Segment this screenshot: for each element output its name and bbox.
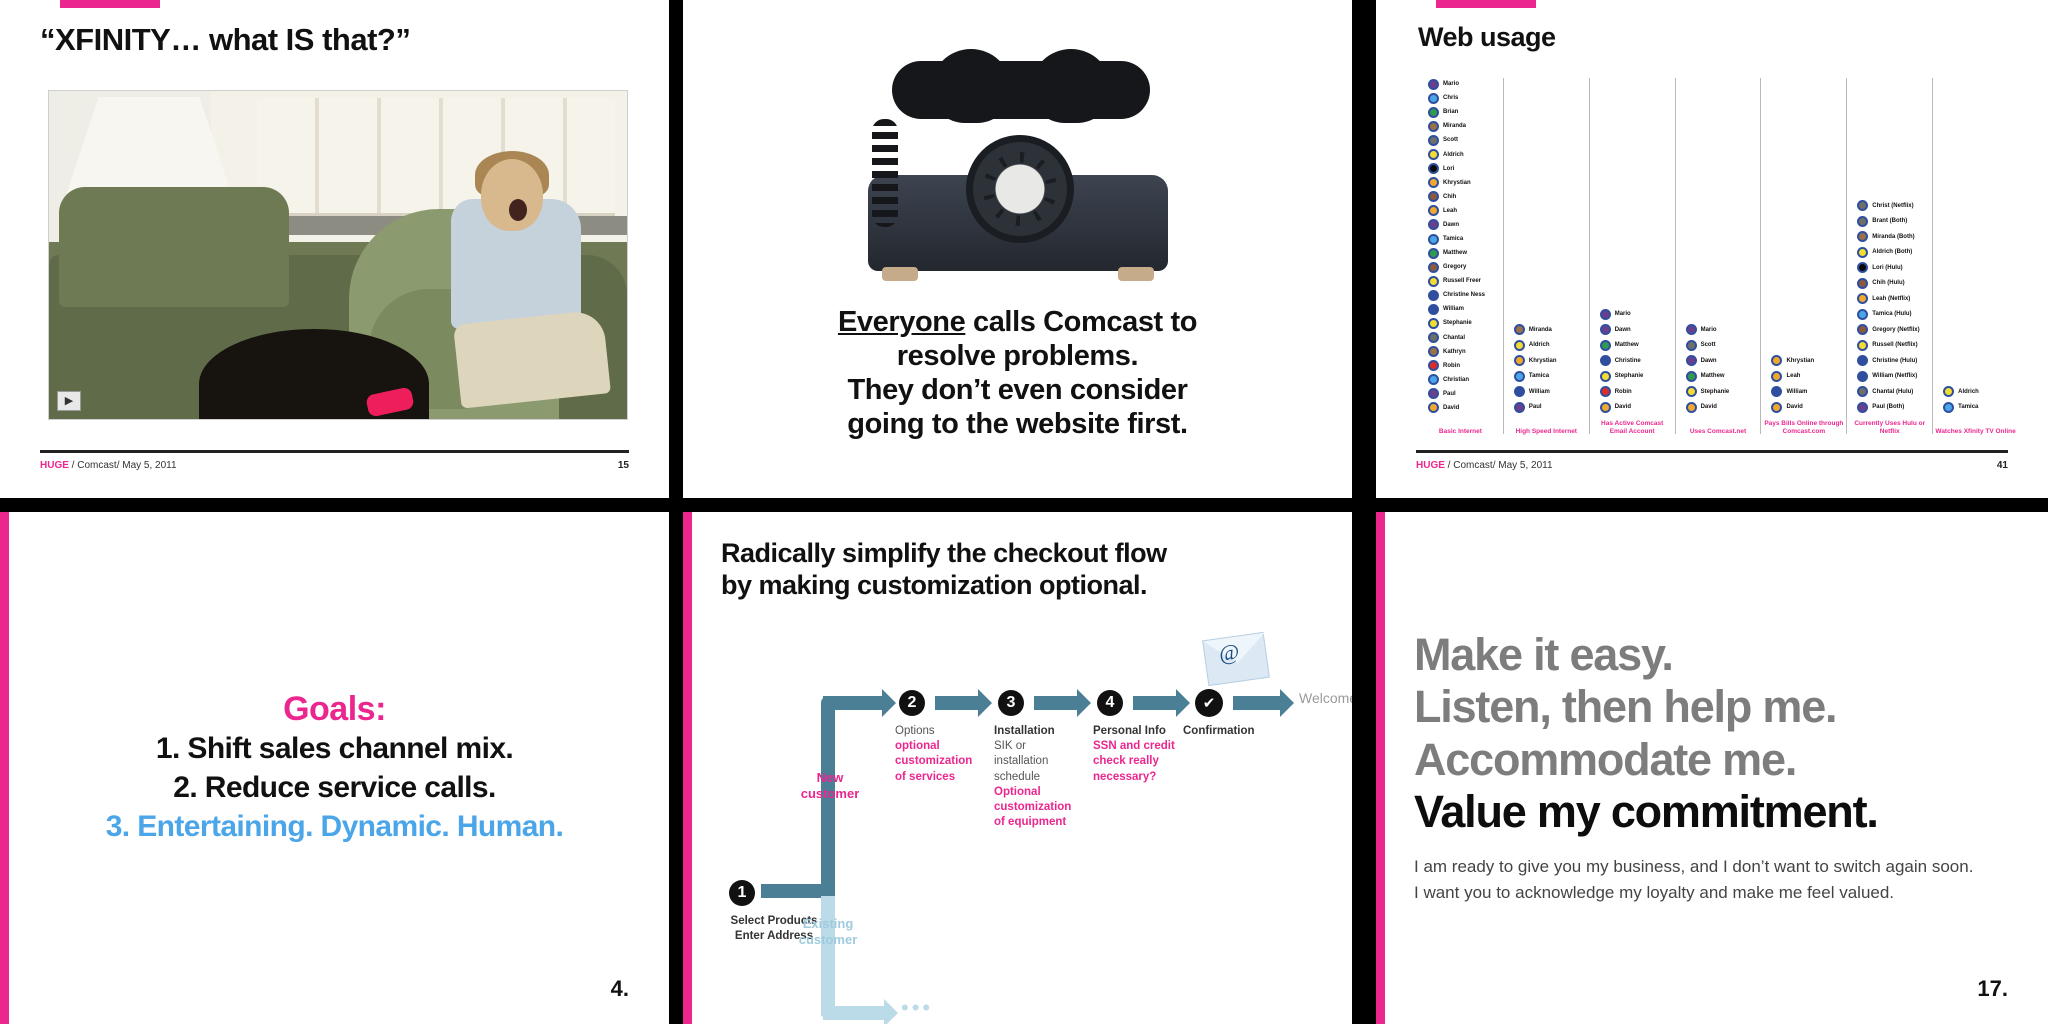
participant-dot-icon (1514, 340, 1525, 351)
footer-meta: / Comcast/ May 5, 2011 (1445, 460, 1553, 471)
participant-label: David (1701, 404, 1717, 410)
slide-make-it-easy[interactable]: Make it easy. Listen, then help me. Acco… (1376, 512, 2048, 1024)
chart-column-header: Uses Comcast.net (1678, 428, 1759, 436)
phone-earpiece-right (1032, 49, 1110, 123)
flow-arrow-2-to-3 (935, 696, 979, 710)
flow-step-2-text: Options optional customization of servic… (895, 724, 983, 785)
chart-participant: Chantal (1428, 332, 1499, 344)
phone-rotary-dial (966, 135, 1074, 243)
participant-dot-icon (1686, 371, 1697, 382)
chart-participant: Gregory (Netflix) (1857, 323, 1928, 337)
chart-participant: Lori (Hulu) (1857, 261, 1928, 275)
slide5-title: Radically simplify the checkout flow by … (721, 538, 1167, 602)
participant-dot-icon (1857, 278, 1868, 289)
slide-cell-5: Radically simplify the checkout flow by … (683, 512, 1366, 1024)
participant-label: Miranda (1443, 123, 1466, 129)
chart-participant: Dawn (1600, 323, 1671, 337)
participant-label: Matthew (1615, 342, 1639, 348)
slide5-title-line1: Radically simplify the checkout flow (721, 538, 1167, 570)
participant-label: Russell (Netflix) (1872, 342, 1917, 348)
participant-label: Tamica (1529, 373, 1549, 379)
chart-participant: David (1600, 401, 1671, 415)
photo-woman-pants (453, 309, 611, 408)
participant-label: Tamica (Hulu) (1872, 311, 1911, 317)
slide1-footer: HUGE / Comcast/ May 5, 2011 15 (40, 450, 629, 480)
participant-dot-icon (1686, 340, 1697, 351)
slide2-content: Everyone calls Comcast to resolve proble… (683, 0, 1352, 498)
slide6-body-text: I am ready to give you my business, and … (1414, 854, 1974, 907)
participant-dot-icon (1514, 371, 1525, 382)
goal-item-2: 2. Reduce service calls. (173, 768, 496, 807)
slide5-title-line2: by making customization optional. (721, 570, 1167, 602)
chart-participant: Russell (Netflix) (1857, 339, 1928, 353)
participant-dot-icon (1428, 93, 1439, 104)
chart-column-items: MirandaAldrichKhrystianTamicaWilliamPaul (1514, 78, 1585, 414)
participant-label: Chantal (Hulu) (1872, 389, 1913, 395)
flow-step-4-pink: SSN and credit check really necessary? (1093, 739, 1181, 785)
participant-label: Aldrich (1958, 389, 1979, 395)
participant-label: Christian (1443, 377, 1469, 383)
chart-participant: Chris (1428, 92, 1499, 104)
participant-label: Mario (1443, 81, 1459, 87)
participant-dot-icon (1686, 386, 1697, 397)
chart-participant: Tamica (1428, 233, 1499, 245)
slide1-page-number: 15 (618, 460, 629, 471)
chart-column-header: Watches Xfinity TV Online (1935, 428, 2016, 436)
chart-participant: William (1428, 303, 1499, 315)
chart-participant: Paul (1428, 388, 1499, 400)
flow-arrow-to-step2 (823, 696, 883, 710)
goal-item-1: 1. Shift sales channel mix. (156, 729, 513, 768)
participant-dot-icon (1428, 107, 1439, 118)
slide6-line-1: Make it easy. (1414, 629, 2008, 681)
chart-participant: Khrystian (1428, 177, 1499, 189)
chart-participant: Mario (1600, 308, 1671, 322)
participant-label: Gregory (1443, 264, 1466, 270)
slide2-line-2: resolve problems. (838, 339, 1197, 373)
participant-label: Leah (Netflix) (1872, 296, 1910, 302)
flow-arrow-to-welcome (1233, 696, 1281, 710)
participant-dot-icon (1857, 293, 1868, 304)
participant-dot-icon (1428, 332, 1439, 343)
chart-participant: Matthew (1686, 370, 1757, 384)
participant-label: Christine (Hulu) (1872, 358, 1917, 364)
participant-dot-icon (1686, 355, 1697, 366)
participant-label: Robin (1443, 363, 1460, 369)
chart-columns: MarioChrisBrianMirandaScottAldrichLoriKh… (1418, 78, 2018, 434)
participant-label: Mario (1701, 327, 1717, 333)
rotary-phone-illustration (838, 57, 1198, 287)
chart-column-items: Christ (Netflix)Brant (Both)Miranda (Bot… (1857, 78, 1928, 414)
email-envelope-icon: @ (1202, 632, 1270, 686)
chart-participant: William (1514, 385, 1585, 399)
chart-column-items: KhrystianLeahWilliamDavid (1771, 78, 1842, 414)
participant-dot-icon (1771, 371, 1782, 382)
phone-cord (872, 119, 898, 227)
participant-label: Matthew (1443, 250, 1467, 256)
slide2-line1-rest: calls Comcast to (965, 306, 1197, 338)
participant-dot-icon (1600, 386, 1611, 397)
chart-column-header: Pays Bills Online through Comcast.com (1763, 420, 1844, 436)
slide1-video-thumbnail[interactable]: ▶ (48, 90, 628, 420)
flow-step-2-badge: 2 (899, 690, 925, 716)
participant-dot-icon (1428, 121, 1439, 132)
flow-step-2-pink: optional customization of services (895, 739, 983, 785)
chart-participant: Khrystian (1771, 354, 1842, 368)
chart-column-4: MarioScottDawnMatthewStephanieDavidUses … (1676, 78, 1762, 434)
participant-dot-icon (1857, 355, 1868, 366)
chart-column-items: AldrichTamica (1943, 78, 2014, 414)
slide-cell-2: Everyone calls Comcast to resolve proble… (683, 0, 1366, 512)
participant-dot-icon (1600, 309, 1611, 320)
chart-participant: Stephanie (1428, 317, 1499, 329)
chart-participant: Leah (Netflix) (1857, 292, 1928, 306)
participant-dot-icon (1514, 402, 1525, 413)
flow-step-2-head: Options (895, 724, 983, 739)
chart-participant: Mario (1686, 323, 1757, 337)
chart-column-items: MarioChrisBrianMirandaScottAldrichLoriKh… (1428, 78, 1499, 414)
participant-dot-icon (1857, 402, 1868, 413)
participant-dot-icon (1428, 304, 1439, 315)
chart-participant: David (1686, 401, 1757, 415)
pink-accent-bar (1436, 0, 1536, 8)
chart-participant: Dawn (1686, 354, 1757, 368)
participant-dot-icon (1943, 402, 1954, 413)
chart-participant: Scott (1686, 339, 1757, 353)
chart-column-items: MarioDawnMatthewChristineStephanieRobinD… (1600, 78, 1671, 414)
slide6-line-2: Listen, then help me. (1414, 681, 2008, 733)
participant-dot-icon (1428, 374, 1439, 385)
slide-cell-1: “XFINITY… what IS that?” ▶ (0, 0, 683, 512)
participant-label: Russell Freer (1443, 278, 1481, 284)
chart-participant: Matthew (1600, 339, 1671, 353)
chart-participant: Dawn (1428, 219, 1499, 231)
participant-label: Kathryn (1443, 349, 1466, 355)
phone-foot-left (882, 267, 918, 281)
participant-label: Dawn (1443, 222, 1459, 228)
chart-participant: Robin (1600, 385, 1671, 399)
flow-arrow-existing-out (823, 1006, 885, 1020)
footer-meta: / Comcast/ May 5, 2011 (69, 460, 177, 471)
chart-participant: Tamica (1943, 401, 2014, 415)
slide-grid: “XFINITY… what IS that?” ▶ (0, 0, 2048, 1024)
slide4-content: Goals: 1. Shift sales channel mix. 2. Re… (0, 512, 669, 1024)
at-symbol-icon: @ (1217, 639, 1241, 668)
slide6-line-3: Accommodate me. (1414, 734, 2008, 786)
flow-label-existing-customer: Existing customer (773, 916, 883, 949)
goal-item-3: 3. Entertaining. Dynamic. Human. (106, 807, 564, 846)
participant-label: Stephanie (1701, 389, 1730, 395)
participant-label: Chih (Hulu) (1872, 280, 1904, 286)
participant-label: William (1529, 389, 1550, 395)
participant-dot-icon (1428, 163, 1439, 174)
chart-column-header: Has Active Comcast Email Account (1592, 420, 1673, 436)
chart-participant: Leah (1771, 370, 1842, 384)
participant-label: William (1443, 306, 1464, 312)
participant-dot-icon (1428, 191, 1439, 202)
slide3-title: Web usage (1418, 22, 1556, 53)
chart-participant: Christine (Hulu) (1857, 354, 1928, 368)
participant-label: William (Netflix) (1872, 373, 1917, 379)
chart-participant: William (1771, 385, 1842, 399)
slide-web-usage[interactable]: Web usage MarioChrisBrianMirandaScottAld… (1376, 0, 2048, 498)
chart-column-2: MirandaAldrichKhrystianTamicaWilliamPaul… (1504, 78, 1590, 434)
participant-dot-icon (1428, 276, 1439, 287)
flow-confirmation-text: Confirmation (1183, 724, 1293, 739)
participant-dot-icon (1943, 386, 1954, 397)
chart-participant: Miranda (1514, 323, 1585, 337)
participant-label: David (1786, 404, 1802, 410)
chart-participant: Stephanie (1600, 370, 1671, 384)
participant-dot-icon (1600, 402, 1611, 413)
participant-label: Christine Ness (1443, 292, 1485, 298)
participant-dot-icon (1428, 149, 1439, 160)
participant-label: Lori (Hulu) (1872, 265, 1902, 271)
chart-participant: Christine (1600, 354, 1671, 368)
slide6-line-bold: Value my commitment. (1414, 786, 2008, 838)
phone-earpiece-left (932, 49, 1010, 123)
footer-credit: HUGE / Comcast/ May 5, 2011 (1416, 460, 1553, 471)
participant-dot-icon (1428, 388, 1439, 399)
participant-label: Christ (Netflix) (1872, 203, 1913, 209)
chart-participant: Leah (1428, 205, 1499, 217)
chart-participant: Kathryn (1428, 346, 1499, 358)
chart-participant: Lori (1428, 163, 1499, 175)
footer-brand: HUGE (1416, 460, 1445, 471)
flow-arrow-4-to-confirm (1133, 696, 1177, 710)
phone-handset (892, 61, 1150, 119)
chart-participant: Christian (1428, 374, 1499, 386)
participant-dot-icon (1771, 386, 1782, 397)
flow-step-3-text: Installation SIK or installation schedul… (994, 724, 1082, 830)
flow-step-3-pink: Optional customization of equipment (994, 785, 1082, 831)
chart-column-header: High Speed Internet (1506, 428, 1587, 436)
participant-label: Aldrich (Both) (1872, 249, 1912, 255)
pink-left-bar (1376, 512, 1385, 1024)
participant-label: Christine (1615, 358, 1641, 364)
participant-label: Lori (1443, 166, 1454, 172)
slide-everyone-calls-comcast[interactable]: Everyone calls Comcast to resolve proble… (683, 0, 1352, 498)
chart-column-1: MarioChrisBrianMirandaScottAldrichLoriKh… (1418, 78, 1504, 434)
participant-label: Gregory (Netflix) (1872, 327, 1919, 333)
participant-label: Chih (1443, 194, 1456, 200)
participant-label: Khrystian (1786, 358, 1814, 364)
participant-dot-icon (1600, 324, 1611, 335)
participant-label: Chantal (1443, 335, 1465, 341)
participant-dot-icon (1428, 290, 1439, 301)
footer-brand: HUGE (40, 460, 69, 471)
chart-participant: Chih (Hulu) (1857, 277, 1928, 291)
flow-step-4-badge: 4 (1097, 690, 1123, 716)
participant-label: Dawn (1615, 327, 1631, 333)
participant-label: David (1443, 405, 1459, 411)
participant-label: David (1615, 404, 1631, 410)
participant-label: Paul (1529, 404, 1542, 410)
chart-participant: Miranda (Both) (1857, 230, 1928, 244)
chart-participant: Chih (1428, 191, 1499, 203)
chart-column-items: MarioScottDawnMatthewStephanieDavid (1686, 78, 1757, 414)
participant-label: William (1786, 389, 1807, 395)
participant-label: Stephanie (1615, 373, 1644, 379)
chart-column-7: AldrichTamicaWatches Xfinity TV Online (1933, 78, 2018, 434)
slide6-page-number: 17. (1977, 976, 2008, 1002)
participant-dot-icon (1857, 386, 1868, 397)
confirmation-check-icon: ✔ (1195, 689, 1223, 717)
flow-connector-step1-join (761, 884, 829, 898)
chart-participant: Chantal (Hulu) (1857, 385, 1928, 399)
chart-participant: Paul (1514, 401, 1585, 415)
participant-label: Aldrich (1529, 342, 1550, 348)
participant-label: Paul (Both) (1872, 404, 1904, 410)
chart-participant: Miranda (1428, 120, 1499, 132)
chart-participant: Aldrich (Both) (1857, 246, 1928, 260)
flow-step-4-text: Personal Info SSN and credit check reall… (1093, 724, 1181, 785)
participant-dot-icon (1514, 355, 1525, 366)
participant-dot-icon (1428, 205, 1439, 216)
flow-welcome-label: Welcome (1299, 690, 1352, 706)
chart-participant: Tamica (Hulu) (1857, 308, 1928, 322)
flow-ellipsis: ••• (901, 995, 933, 1021)
participant-label: Miranda (Both) (1872, 234, 1914, 240)
chart-participant: Robin (1428, 360, 1499, 372)
chart-column-3: MarioDawnMatthewChristineStephanieRobinD… (1590, 78, 1676, 434)
participant-dot-icon (1600, 355, 1611, 366)
slide2-line-4: going to the website first. (838, 407, 1197, 441)
participant-label: Mario (1615, 311, 1631, 317)
chart-participant: Tamica (1514, 370, 1585, 384)
slide2-statement: Everyone calls Comcast to resolve proble… (838, 305, 1197, 442)
footer-rule (40, 450, 629, 453)
participant-label: Scott (1701, 342, 1716, 348)
chart-participant: David (1428, 402, 1499, 414)
participant-dot-icon (1857, 371, 1868, 382)
chart-participant: Paul (Both) (1857, 401, 1928, 415)
participant-label: Brian (1443, 109, 1458, 115)
participant-dot-icon (1857, 262, 1868, 273)
participant-label: Chris (1443, 95, 1458, 101)
slide-checkout-flow[interactable]: Radically simplify the checkout flow by … (683, 512, 1352, 1024)
participant-dot-icon (1428, 234, 1439, 245)
participant-dot-icon (1686, 324, 1697, 335)
flow-arrow-3-to-4 (1034, 696, 1078, 710)
chart-participant: Russell Freer (1428, 275, 1499, 287)
slide6-content: Make it easy. Listen, then help me. Acco… (1414, 512, 2008, 1024)
participant-label: Scott (1443, 137, 1458, 143)
footer-credit: HUGE / Comcast/ May 5, 2011 (40, 460, 177, 471)
participant-dot-icon (1600, 371, 1611, 382)
goals-heading: Goals: (283, 690, 386, 729)
slide2-emphasis: Everyone (838, 306, 965, 338)
participant-dot-icon (1428, 219, 1439, 230)
participant-dot-icon (1428, 135, 1439, 146)
flow-confirmation-label: Confirmation (1183, 724, 1293, 739)
chart-participant: Gregory (1428, 261, 1499, 273)
participant-label: Leah (1786, 373, 1800, 379)
photo-cabinet-doors (257, 98, 615, 216)
chart-participant: Khrystian (1514, 354, 1585, 368)
chart-participant: David (1771, 401, 1842, 415)
participant-dot-icon (1771, 402, 1782, 413)
slide4-page-number: 4. (611, 976, 629, 1002)
slide3-footer: HUGE / Comcast/ May 5, 2011 41 (1416, 450, 2008, 480)
photo-woman-head (481, 159, 543, 231)
slide1-title: “XFINITY… what IS that?” (40, 22, 410, 58)
participant-label: Khrystian (1443, 180, 1471, 186)
chart-column-header: Basic Internet (1420, 428, 1501, 436)
flow-step-3-badge: 3 (998, 690, 1024, 716)
participant-dot-icon (1428, 248, 1439, 259)
photo-sofa-cushion (59, 187, 289, 307)
footer-rule (1416, 450, 2008, 453)
participant-dot-icon (1428, 318, 1439, 329)
participant-dot-icon (1857, 247, 1868, 258)
participant-label: Aldrich (1443, 152, 1464, 158)
participant-dot-icon (1428, 360, 1439, 371)
chart-participant: Aldrich (1428, 149, 1499, 161)
slide-goals[interactable]: Goals: 1. Shift sales channel mix. 2. Re… (0, 512, 669, 1024)
participant-dot-icon (1857, 231, 1868, 242)
chart-participant: Brant (Both) (1857, 215, 1928, 229)
participant-dot-icon (1428, 402, 1439, 413)
web-usage-chart: MarioChrisBrianMirandaScottAldrichLoriKh… (1418, 78, 2018, 434)
chart-participant: Brian (1428, 106, 1499, 118)
flow-step-3-gray: SIK or installation schedule (994, 739, 1082, 785)
participant-label: Paul (1443, 391, 1456, 397)
slide2-line-1: Everyone calls Comcast to (838, 305, 1197, 339)
chart-participant: Christ (Netflix) (1857, 199, 1928, 213)
participant-dot-icon (1857, 324, 1868, 335)
chart-participant: Aldrich (1514, 339, 1585, 353)
participant-dot-icon (1771, 355, 1782, 366)
chart-participant: William (Netflix) (1857, 370, 1928, 384)
flow-step-4-head: Personal Info (1093, 724, 1181, 739)
flow-step-1-badge: 1 (729, 880, 755, 906)
participant-label: Robin (1615, 389, 1632, 395)
slide-cell-6: Make it easy. Listen, then help me. Acco… (1366, 512, 2048, 1024)
slide-cell-3: Web usage MarioChrisBrianMirandaScottAld… (1366, 0, 2048, 512)
pink-left-bar (683, 512, 692, 1024)
photo-woman-mouth (509, 199, 527, 221)
participant-label: Khrystian (1529, 358, 1557, 364)
participant-dot-icon (1857, 200, 1868, 211)
participant-label: Tamica (1443, 236, 1463, 242)
participant-dot-icon (1600, 340, 1611, 351)
participant-label: Stephanie (1443, 320, 1472, 326)
participant-label: Dawn (1701, 358, 1717, 364)
checkout-flow-diagram: 1 Select Products Enter Address New cust… (713, 652, 1332, 1014)
play-icon[interactable]: ▶ (57, 391, 81, 411)
participant-label: Tamica (1958, 404, 1978, 410)
participant-dot-icon (1428, 177, 1439, 188)
chart-participant: Stephanie (1686, 385, 1757, 399)
slide3-page-number: 41 (1997, 460, 2008, 471)
participant-dot-icon (1514, 386, 1525, 397)
phone-foot-right (1118, 267, 1154, 281)
chart-column-6: Christ (Netflix)Brant (Both)Miranda (Bot… (1847, 78, 1933, 434)
participant-dot-icon (1857, 340, 1868, 351)
participant-dot-icon (1428, 346, 1439, 357)
participant-dot-icon (1428, 79, 1439, 90)
flow-step-3-head: Installation (994, 724, 1082, 739)
chart-participant: Matthew (1428, 247, 1499, 259)
slide-xfinity-what-is-that[interactable]: “XFINITY… what IS that?” ▶ (0, 0, 669, 498)
chart-column-5: KhrystianLeahWilliamDavidPays Bills Onli… (1761, 78, 1847, 434)
slide-cell-4: Goals: 1. Shift sales channel mix. 2. Re… (0, 512, 683, 1024)
participant-label: Matthew (1701, 373, 1725, 379)
chart-participant: Christine Ness (1428, 289, 1499, 301)
chart-column-header: Currently Uses Hulu or Netflix (1849, 420, 1930, 436)
pink-accent-bar (60, 0, 160, 8)
